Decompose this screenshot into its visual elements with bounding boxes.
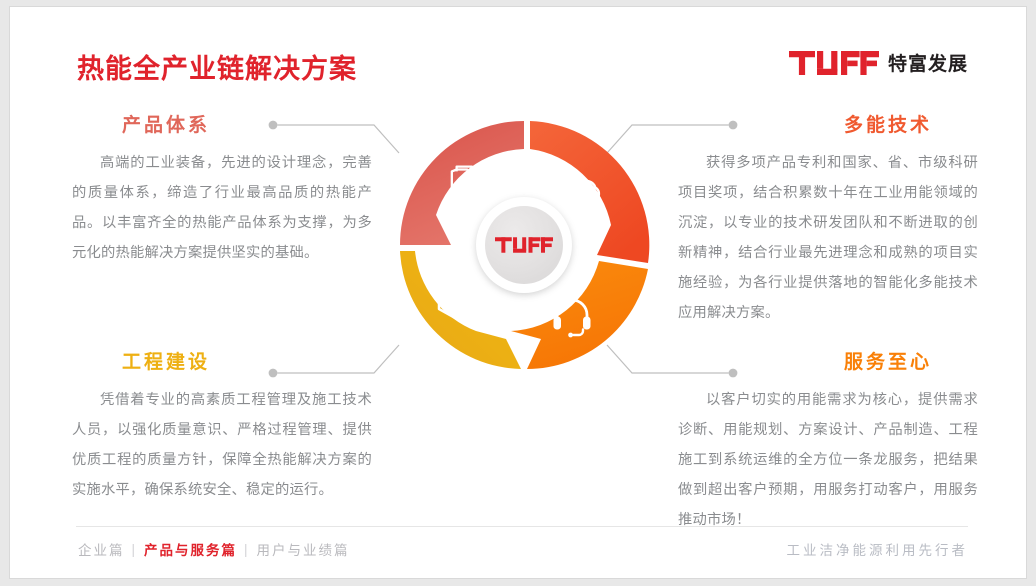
- footer-nav: 企业篇 | 产品与服务篇 | 用户与业绩篇: [78, 539, 350, 559]
- footer-tagline: 工业洁净能源利用先行者: [787, 539, 969, 559]
- tuff-logo-icon: [789, 51, 879, 75]
- section-product: 产品体系 高端的工业装备，先进的设计理念，完善的质量体系，缔造了行业最高品质的热…: [72, 115, 372, 268]
- cloud-network-icon: [562, 175, 610, 223]
- headset-icon: [548, 291, 596, 339]
- section-engineering-body: 凭借着专业的高素质工程管理及施工技术人员，以强化质量意识、严格过程管理、提供优质…: [72, 385, 372, 505]
- footer-nav-separator: |: [244, 542, 250, 557]
- donut-center-hub: [476, 197, 572, 293]
- section-technology-body: 获得多项产品专利和国家、省、市级科研项目奖项，结合积累数十年在工业用能领域的沉淀…: [678, 148, 978, 328]
- footer-divider: [76, 526, 968, 527]
- section-technology: 多能技术 获得多项产品专利和国家、省、市级科研项目奖项，结合积累数十年在工业用能…: [678, 115, 978, 328]
- cube-wireframe-icon: [433, 275, 481, 323]
- center-tuff-logo-icon: [495, 237, 553, 253]
- slide-canvas: 热能全产业链解决方案 特富发展 产品体系: [9, 6, 1027, 579]
- footer-nav-item-company[interactable]: 企业篇: [78, 539, 125, 559]
- section-engineering: 工程建设 凭借着专业的高素质工程管理及施工技术人员，以强化质量意识、严格过程管理…: [72, 352, 372, 505]
- section-service: 服务至心 以客户切实的用能需求为核心，提供需求诊断、用能规划、方案设计、产品制造…: [678, 352, 978, 535]
- brand-logo: 特富发展: [789, 49, 968, 76]
- donut-diagram: [393, 103, 655, 381]
- folder-share-icon: [448, 158, 494, 204]
- footer-nav-item-customers-performance[interactable]: 用户与业绩篇: [257, 539, 350, 559]
- page-title: 热能全产业链解决方案: [77, 47, 357, 86]
- section-technology-heading: 多能技术: [678, 115, 978, 138]
- footer-nav-separator: |: [132, 542, 138, 557]
- section-engineering-heading: 工程建设: [72, 352, 372, 375]
- footer-nav-item-products-services[interactable]: 产品与服务篇: [144, 539, 237, 559]
- donut-center-disc: [485, 206, 563, 284]
- section-service-body: 以客户切实的用能需求为核心，提供需求诊断、用能规划、方案设计、产品制造、工程施工…: [678, 385, 978, 535]
- section-product-body: 高端的工业装备，先进的设计理念，完善的质量体系，缔造了行业最高品质的热能产品。以…: [72, 148, 372, 268]
- section-product-heading: 产品体系: [72, 115, 372, 138]
- logo-company-name: 特富发展: [888, 49, 968, 76]
- section-service-heading: 服务至心: [678, 352, 978, 375]
